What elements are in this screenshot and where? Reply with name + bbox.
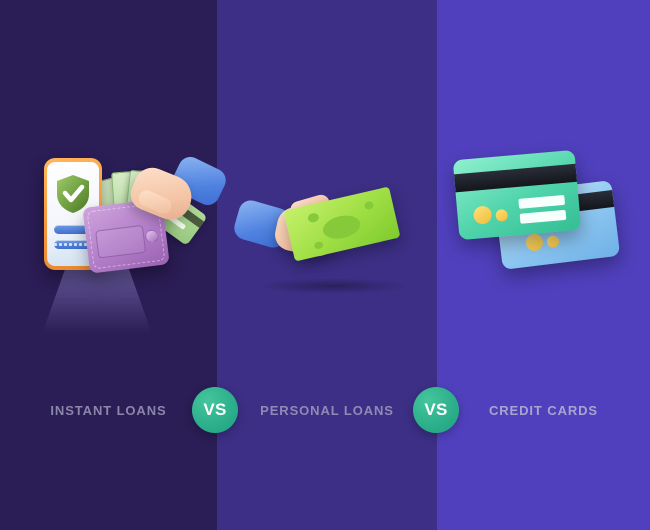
comparison-label-credit-cards: CREDIT CARDS	[437, 388, 650, 432]
comparison-strip: INSTANT LOANS VS PERSONAL LOANS VS CREDI…	[0, 388, 650, 432]
card-logo-circle	[525, 233, 544, 252]
comparison-label-personal-loans: PERSONAL LOANS	[217, 388, 437, 432]
card-detail-bar	[518, 195, 565, 209]
card-magnetic-stripe	[454, 164, 577, 193]
banknote-portrait-oval	[321, 212, 363, 242]
banknote-detail	[307, 212, 320, 223]
credit-card-teal	[453, 150, 582, 240]
wallet-pocket	[95, 225, 146, 259]
password-dot	[79, 243, 82, 246]
personal-loans-illustration	[228, 160, 428, 290]
password-dot	[74, 243, 77, 246]
credit-cards-illustration	[450, 145, 620, 270]
ground-shadow	[258, 278, 408, 294]
card-logo-circle	[495, 209, 508, 222]
card-logo-circle	[473, 205, 493, 225]
banknote-detail	[314, 241, 324, 250]
password-dot	[69, 243, 72, 246]
password-dot	[64, 243, 67, 246]
phone-light-beam	[42, 266, 152, 334]
comparison-label-instant-loans: INSTANT LOANS	[0, 388, 217, 432]
card-detail-bar	[520, 210, 567, 224]
card-logo-circle	[546, 235, 559, 248]
password-dot	[54, 243, 57, 246]
banknote-detail	[364, 201, 375, 211]
comparison-graphic: INSTANT LOANS VS PERSONAL LOANS VS CREDI…	[0, 0, 650, 530]
password-dot	[59, 243, 62, 246]
banknote-icon	[284, 187, 401, 262]
